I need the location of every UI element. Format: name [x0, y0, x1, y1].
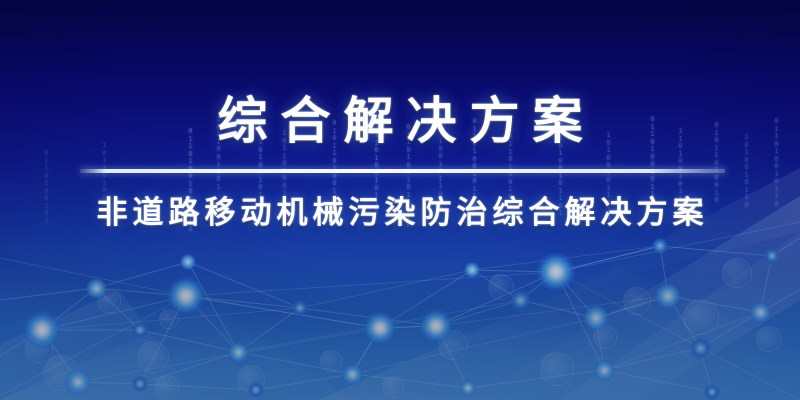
banner-title: 综合解决方案 [0, 92, 800, 150]
title-divider [80, 169, 725, 173]
banner-content: 综合解决方案 非道路移动机械污染防治综合解决方案 [0, 0, 800, 400]
banner-subtitle: 非道路移动机械污染防治综合解决方案 [0, 193, 800, 233]
solution-banner: 0 1 1 0 1 0 0 1 0 1 1 0 1 01 0 1 1 0 0 1… [0, 0, 800, 400]
